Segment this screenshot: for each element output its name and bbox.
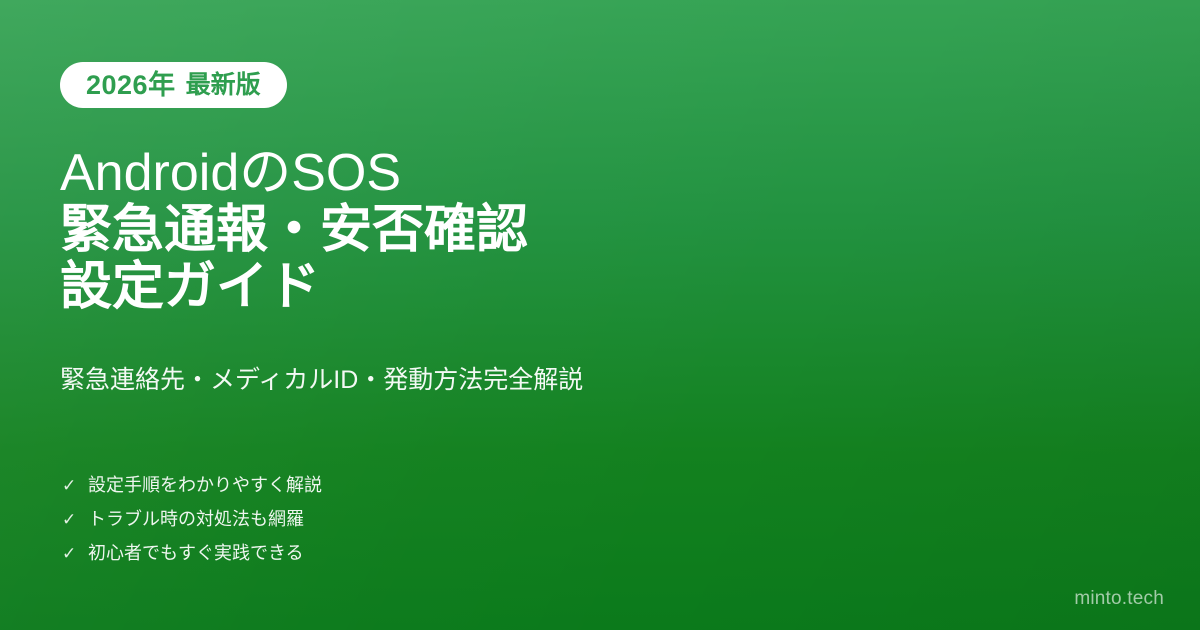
check-icon: ✓ [62, 477, 88, 494]
title-line-1: AndroidのSOS [60, 145, 960, 202]
feature-label: 設定手順をわかりやすく解説 [88, 476, 322, 494]
badge-edition-label: 最新版 [186, 73, 261, 98]
card-content: 2026年 最新版 AndroidのSOS 緊急通報・安否確認 設定ガイド 緊急… [60, 0, 1140, 630]
edition-badge: 2026年 最新版 [60, 62, 287, 108]
feature-label: トラブル時の対処法も網羅 [88, 510, 304, 528]
list-item: ✓ 初心者でもすぐ実践できる [62, 536, 322, 570]
badge-year-label: 2026年 [86, 72, 176, 99]
feature-label: 初心者でもすぐ実践できる [88, 544, 304, 562]
feature-list: ✓ 設定手順をわかりやすく解説 ✓ トラブル時の対処法も網羅 ✓ 初心者でもすぐ… [62, 468, 322, 570]
page-title: AndroidのSOS 緊急通報・安否確認 設定ガイド [60, 145, 960, 316]
check-icon: ✓ [62, 511, 88, 528]
check-icon: ✓ [62, 545, 88, 562]
title-line-3: 設定ガイド [60, 259, 960, 316]
list-item: ✓ トラブル時の対処法も網羅 [62, 502, 322, 536]
list-item: ✓ 設定手順をわかりやすく解説 [62, 468, 322, 502]
title-line-2: 緊急通報・安否確認 [60, 202, 960, 259]
og-image-card: 2026年 最新版 AndroidのSOS 緊急通報・安否確認 設定ガイド 緊急… [0, 0, 1200, 630]
page-subtitle: 緊急連絡先・メディカルID・発動方法完全解説 [60, 363, 583, 397]
site-brand-watermark: minto.tech [1074, 589, 1164, 608]
